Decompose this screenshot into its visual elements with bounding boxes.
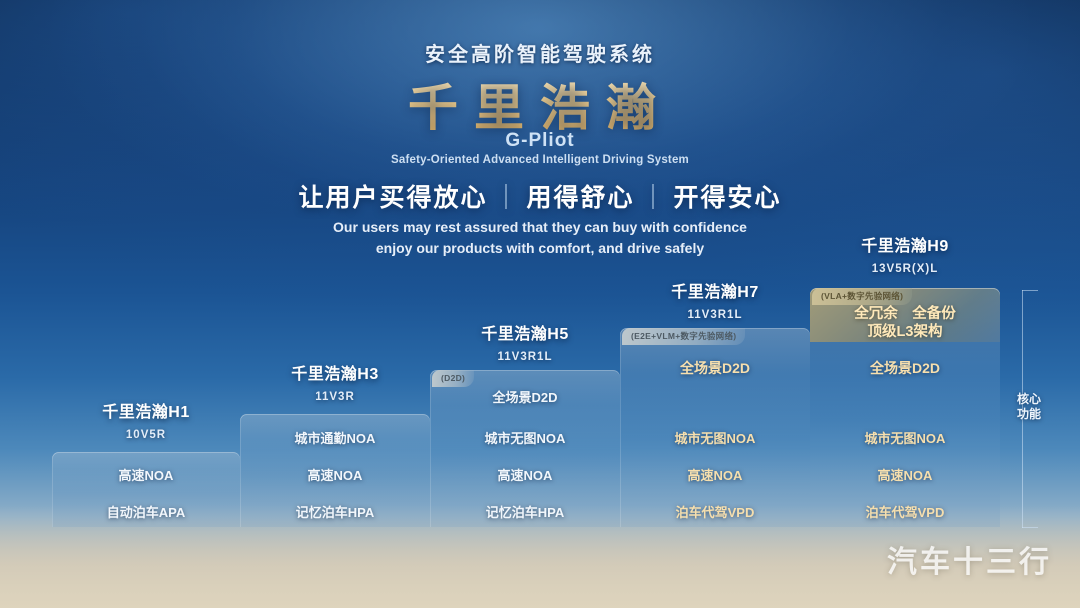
bracket-label-line-2: 功能 [1016, 407, 1042, 422]
tier-header-h3: 千里浩瀚H3 11V3R [240, 360, 430, 403]
feature-item: 自动泊车APA [52, 502, 240, 521]
tier-code-h7: 11V3R1L [620, 309, 810, 321]
feature-item: 全场景D2D [620, 358, 810, 378]
feature-item: 泊车代驾VPD [810, 502, 1000, 521]
feature-item: 高速NOA [810, 465, 1000, 484]
bracket-top-tick [1022, 290, 1038, 291]
tier-code-h3: 11V3R [240, 391, 430, 403]
feature-item: 全场景D2D [430, 387, 620, 406]
bracket-bottom-tick [1022, 527, 1038, 528]
tier-name-h9: 千里浩瀚H9 [810, 232, 1000, 256]
feature-item: 记忆泊车HPA [240, 502, 430, 521]
watermark: 汽车十三行 [887, 537, 1052, 581]
tier-name-h1: 千里浩瀚H1 [52, 398, 240, 422]
bracket-label-line-1: 核心 [1016, 392, 1042, 407]
feature-item: 城市无图NOA [810, 428, 1000, 447]
tier-name-h3: 千里浩瀚H3 [240, 360, 430, 384]
tier-name-h7: 千里浩瀚H7 [620, 278, 810, 302]
feature-item: 城市无图NOA [430, 428, 620, 447]
feature-item: 高速NOA [240, 465, 430, 484]
feature-item: 记忆泊车HPA [430, 502, 620, 521]
highlight-line-2: 顶级L3架构 [810, 320, 1000, 341]
tier-code-h9: 13V5R(X)L [810, 263, 1000, 275]
feature-item: 城市无图NOA [620, 428, 810, 447]
bracket-label: 核心 功能 [1016, 392, 1042, 422]
tier-column-h3[interactable]: 千里浩瀚H3 11V3R 城市通勤NOA 高速NOA 记忆泊车HPA [240, 0, 430, 608]
core-function-bracket: 核心 功能 [1008, 290, 1038, 528]
feature-item: 全场景D2D [810, 358, 1000, 378]
tier-column-h9[interactable]: 千里浩瀚H9 13V5R(X)L 全冗余 全备份 顶级L3架构 (VLA+数字先… [810, 0, 1000, 608]
tier-code-h1: 10V5R [52, 429, 240, 441]
feature-item: 高速NOA [52, 465, 240, 484]
tier-name-h5: 千里浩瀚H5 [430, 320, 620, 344]
tier-badge-h7: (E2E+VLM+数字先验网络) [622, 328, 745, 345]
tier-badge-h5: (D2D) [432, 370, 474, 387]
tier-header-h1: 千里浩瀚H1 10V5R [52, 398, 240, 441]
feature-item: 高速NOA [620, 465, 810, 484]
tier-badge-h9: (VLA+数字先验网络) [812, 288, 912, 305]
tier-column-h7[interactable]: 千里浩瀚H7 11V3R1L (E2E+VLM+数字先验网络) 全场景D2D 城… [620, 0, 810, 608]
tier-header-h7: 千里浩瀚H7 11V3R1L [620, 278, 810, 321]
tier-header-h9: 千里浩瀚H9 13V5R(X)L [810, 232, 1000, 275]
feature-item: 城市通勤NOA [240, 428, 430, 447]
tier-header-h5: 千里浩瀚H5 11V3R1L [430, 320, 620, 363]
tier-column-h5[interactable]: 千里浩瀚H5 11V3R1L (D2D) 全场景D2D 城市无图NOA 高速NO… [430, 0, 620, 608]
tier-column-h1[interactable]: 千里浩瀚H1 10V5R 高速NOA 自动泊车APA [52, 0, 240, 608]
feature-item: 泊车代驾VPD [620, 502, 810, 521]
slide-canvas: 安全高阶智能驾驶系统 千里浩瀚 G-Pliot Safety-Oriented … [0, 0, 1080, 608]
tier-staircase-chart: 千里浩瀚H1 10V5R 高速NOA 自动泊车APA 千里浩瀚H3 11V3R … [0, 0, 1080, 608]
tier-code-h5: 11V3R1L [430, 351, 620, 363]
feature-item: 高速NOA [430, 465, 620, 484]
